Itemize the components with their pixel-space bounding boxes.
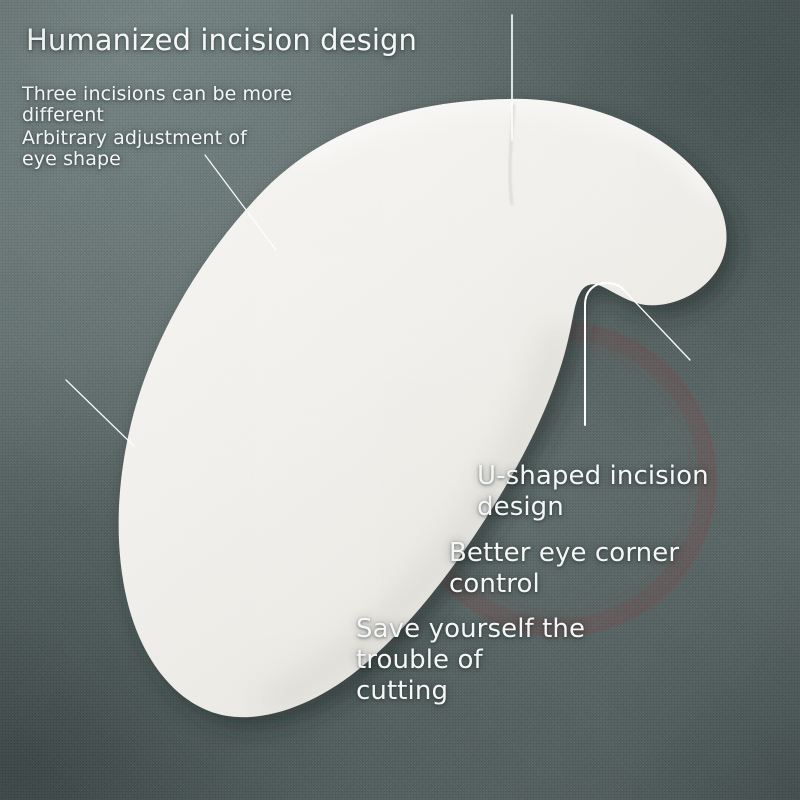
vignette-overlay bbox=[0, 0, 800, 800]
product-infographic: Humanized incision design Three incision… bbox=[0, 0, 800, 800]
